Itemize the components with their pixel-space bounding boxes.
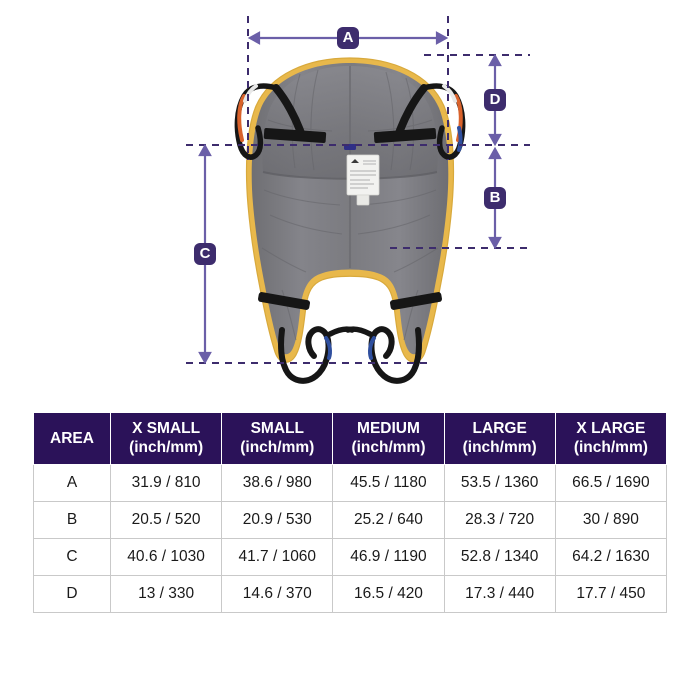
cell-xlarge: 64.2 / 1630 <box>555 539 666 576</box>
cell-large: 53.5 / 1360 <box>444 465 555 502</box>
sling-illustration <box>0 0 700 400</box>
cell-xlarge: 66.5 / 1690 <box>555 465 666 502</box>
cell-xlarge: 17.7 / 450 <box>555 576 666 613</box>
column-header-xlarge: X LARGE (inch/mm) <box>555 413 666 465</box>
column-header-small: SMALL (inch/mm) <box>222 413 333 465</box>
cell-small: 20.9 / 530 <box>222 502 333 539</box>
cell-xsmall: 13 / 330 <box>111 576 222 613</box>
cell-xsmall: 20.5 / 520 <box>111 502 222 539</box>
arrow-B-head-bottom <box>490 238 500 247</box>
sling-body-group <box>237 58 462 381</box>
arrow-D-head-top <box>490 56 500 65</box>
column-header-area: AREA <box>34 413 111 465</box>
arrow-C-head-bottom <box>200 353 210 362</box>
column-header-medium: MEDIUM (inch/mm) <box>333 413 444 465</box>
cell-medium: 46.9 / 1190 <box>333 539 444 576</box>
cell-small: 38.6 / 980 <box>222 465 333 502</box>
table-row: D 13 / 330 14.6 / 370 16.5 / 420 17.3 / … <box>34 576 667 613</box>
cell-small: 41.7 / 1060 <box>222 539 333 576</box>
table-row: A 31.9 / 810 38.6 / 980 45.5 / 1180 53.5… <box>34 465 667 502</box>
cell-area: B <box>34 502 111 539</box>
dimension-badge-D: D <box>484 89 506 111</box>
cell-small: 14.6 / 370 <box>222 576 333 613</box>
dimension-badge-C: C <box>194 243 216 265</box>
table-row: C 40.6 / 1030 41.7 / 1060 46.9 / 1190 52… <box>34 539 667 576</box>
dimension-badge-A: A <box>337 27 359 49</box>
table-row: B 20.5 / 520 20.9 / 530 25.2 / 640 28.3 … <box>34 502 667 539</box>
arrow-C-head-top <box>200 146 210 155</box>
size-chart-table: AREA X SMALL (inch/mm) SMALL (inch/mm) M… <box>33 412 667 613</box>
column-title: X LARGE <box>576 420 645 437</box>
cell-xlarge: 30 / 890 <box>555 502 666 539</box>
cell-area: A <box>34 465 111 502</box>
cell-medium: 25.2 / 640 <box>333 502 444 539</box>
column-unit: (inch/mm) <box>113 438 219 457</box>
column-title: X SMALL <box>132 420 200 437</box>
arrow-D-head-bottom <box>490 135 500 144</box>
cell-medium: 45.5 / 1180 <box>333 465 444 502</box>
cell-area: C <box>34 539 111 576</box>
column-title: MEDIUM <box>357 420 420 437</box>
column-header-xsmall: X SMALL (inch/mm) <box>111 413 222 465</box>
cell-xsmall: 40.6 / 1030 <box>111 539 222 576</box>
dimension-badge-B: B <box>484 187 506 209</box>
cell-medium: 16.5 / 420 <box>333 576 444 613</box>
cell-large: 52.8 / 1340 <box>444 539 555 576</box>
column-title: LARGE <box>473 420 527 437</box>
arrow-B-head-top <box>490 149 500 158</box>
cell-xsmall: 31.9 / 810 <box>111 465 222 502</box>
sling-dimension-diagram: A D B C <box>0 0 700 400</box>
column-unit: (inch/mm) <box>335 438 441 457</box>
column-title: SMALL <box>251 420 304 437</box>
table-header-row: AREA X SMALL (inch/mm) SMALL (inch/mm) M… <box>34 413 667 465</box>
column-unit: (inch/mm) <box>558 438 664 457</box>
arrow-A-head-left <box>250 33 259 43</box>
cell-large: 28.3 / 720 <box>444 502 555 539</box>
column-header-large: LARGE (inch/mm) <box>444 413 555 465</box>
column-unit: (inch/mm) <box>447 438 553 457</box>
cell-large: 17.3 / 440 <box>444 576 555 613</box>
cell-area: D <box>34 576 111 613</box>
size-chart-page: A D B C AREA X SMALL (inch/mm) SMALL (in… <box>0 0 700 700</box>
arrow-A-head-right <box>437 33 446 43</box>
column-unit: (inch/mm) <box>224 438 330 457</box>
